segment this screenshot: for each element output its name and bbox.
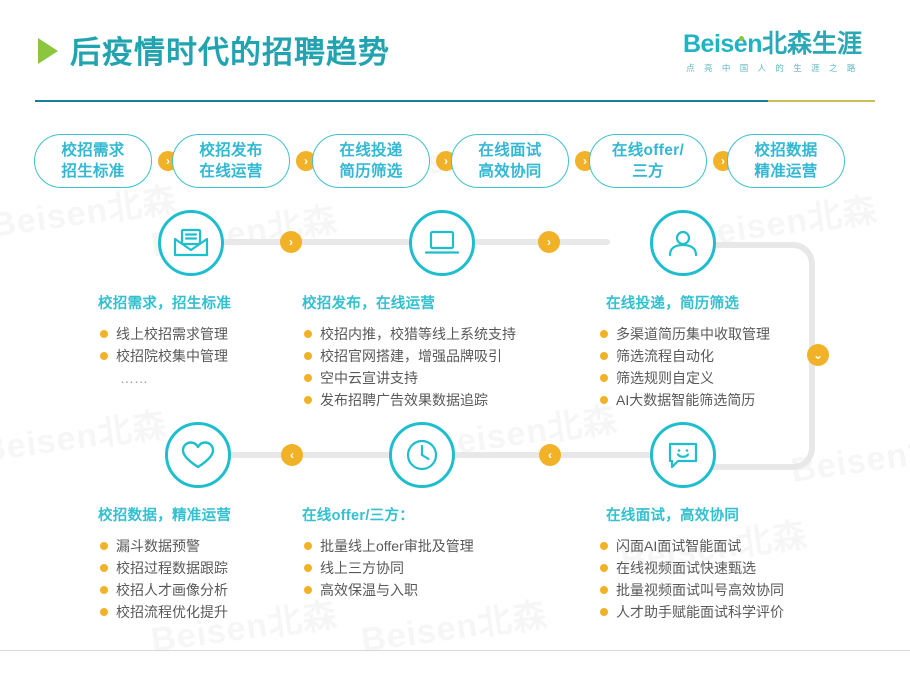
list-item-text: 校招院校集中管理 [116, 348, 228, 364]
list-item: 校招流程优化提升 [98, 601, 298, 623]
pill-line-2: 高效协同 [478, 161, 541, 182]
list-item-text: 闪面AI面试智能面试 [616, 538, 741, 554]
logo-tagline: 点 亮 中 国 人 的 生 涯 之 路 [683, 62, 862, 74]
pill-line-1: 在线offer/ [612, 140, 684, 161]
page-title: 后疫情时代的招聘趋势 [70, 34, 390, 72]
list-item-text: AI大数据智能筛选简历 [616, 392, 755, 408]
list-item: …… [98, 367, 283, 389]
pill-line-2: 在线运营 [199, 161, 262, 182]
list-item-text: 校招官网搭建，增强品牌吸引 [320, 348, 502, 364]
list-item: 线上三方协同 [302, 557, 542, 579]
block-feature-list: 线上校招需求管理 校招院校集中管理 …… [98, 323, 283, 389]
block-heading: 校招发布，在线运营 [302, 292, 582, 313]
list-item: 筛选规则自定义 [598, 367, 838, 389]
block-heading: 在线面试，高效协同 [606, 504, 848, 525]
block-feature-list: 漏斗数据预警 校招过程数据跟踪 校招人才画像分析 校招流程优化提升 [98, 535, 298, 623]
list-item: 空中云宣讲支持 [302, 367, 582, 389]
bullet-dot [304, 564, 312, 572]
logo-brand-en: Beisen [683, 30, 762, 58]
bullet-dot [600, 330, 608, 338]
list-item: 漏斗数据预警 [98, 535, 298, 557]
clock-icon [389, 422, 455, 488]
list-item: 线上校招需求管理 [98, 323, 283, 345]
bullet-dot [304, 374, 312, 382]
connector-arrow-left-icon: ‹ [539, 444, 561, 466]
list-item-text: 批量视频面试叫号高效协同 [616, 582, 784, 598]
block-heading: 在线offer/三方： [302, 504, 542, 525]
block-feature-list: 闪面AI面试智能面试 在线视频面试快速甄选 批量视频面试叫号高效协同 人才助手赋… [598, 535, 848, 623]
slide-header: 后疫情时代的招聘趋势 Beisen北森生涯 点 亮 中 国 人 的 生 涯 之 … [0, 0, 910, 105]
divider-segment-teal [35, 100, 768, 102]
pill-line-1: 在线面试 [478, 140, 541, 161]
bullet-dot [600, 396, 608, 404]
pill-online-interview[interactable]: 在线面试 高效协同 [451, 134, 569, 188]
brand-logo: Beisen北森生涯 点 亮 中 国 人 的 生 涯 之 路 [683, 30, 862, 74]
list-item: 校招院校集中管理 [98, 345, 283, 367]
bullet-dot [100, 542, 108, 550]
pill-line-2: 简历筛选 [339, 161, 402, 182]
logo-wordmark: Beisen北森生涯 [683, 30, 862, 58]
pill-online-offer[interactable]: 在线offer/ 三方 [589, 134, 707, 188]
bullet-dot [600, 352, 608, 360]
slide-canvas: Beisen北森 Beisen北森 Beisen北森 Beisen北森 Beis… [0, 0, 910, 693]
slide-bottom-rule [0, 650, 910, 651]
pill-line-2: 招生标准 [61, 161, 124, 182]
chat-smile-icon [650, 422, 716, 488]
pill-line-1: 在线投递 [339, 140, 402, 161]
bullet-dot [304, 396, 312, 404]
bullet-dot [100, 586, 108, 594]
list-item-text: 空中云宣讲支持 [320, 370, 418, 386]
bullet-dot [100, 564, 108, 572]
list-item-text: 发布招聘广告效果数据追踪 [320, 392, 488, 408]
list-item: 校招过程数据跟踪 [98, 557, 298, 579]
bullet-dot [304, 352, 312, 360]
list-item: 多渠道简历集中收取管理 [598, 323, 838, 345]
pill-line-2: 精准运营 [754, 161, 817, 182]
list-item-text: 在线视频面试快速甄选 [616, 560, 756, 576]
envelope-icon [158, 210, 224, 276]
pill-line-1: 校招数据 [754, 140, 817, 161]
logo-brand-cn: 北森生涯 [762, 30, 862, 58]
block-feature-list: 多渠道简历集中收取管理 筛选流程自动化 筛选规则自定义 AI大数据智能筛选简历 [598, 323, 838, 411]
pill-campus-data[interactable]: 校招数据 精准运营 [727, 134, 845, 188]
list-item: 批量线上offer审批及管理 [302, 535, 542, 557]
bullet-dot [100, 330, 108, 338]
list-item: 筛选流程自动化 [598, 345, 838, 367]
block-online-offer: 在线offer/三方： 批量线上offer审批及管理 线上三方协同 高效保温与入… [302, 422, 542, 601]
list-item-text: 校招内推，校猎等线上系统支持 [320, 326, 516, 342]
header-divider [35, 100, 875, 102]
bullet-dot [600, 586, 608, 594]
triangle-play-icon [38, 38, 58, 64]
logo-dot-accent [739, 36, 744, 41]
list-item: 批量视频面试叫号高效协同 [598, 579, 848, 601]
pill-line-2: 三方 [632, 161, 664, 182]
person-icon [650, 210, 716, 276]
block-heading: 校招需求，招生标准 [98, 292, 283, 313]
block-heading: 在线投递，简历筛选 [606, 292, 838, 313]
list-item: 校招内推，校猎等线上系统支持 [302, 323, 582, 345]
bullet-dot [100, 608, 108, 616]
list-item-text: 筛选规则自定义 [616, 370, 714, 386]
block-online-interview: 在线面试，高效协同 闪面AI面试智能面试 在线视频面试快速甄选 批量视频面试叫号… [598, 422, 848, 623]
list-item-text: 多渠道简历集中收取管理 [616, 326, 770, 342]
list-item: AI大数据智能筛选简历 [598, 389, 838, 411]
bullet-dot [304, 586, 312, 594]
list-item-text: 线上校招需求管理 [116, 326, 228, 342]
list-item-text: 高效保温与入职 [320, 582, 418, 598]
list-item: 校招官网搭建，增强品牌吸引 [302, 345, 582, 367]
bullet-dot [600, 608, 608, 616]
list-item: 高效保温与入职 [302, 579, 542, 601]
list-item: 在线视频面试快速甄选 [598, 557, 848, 579]
list-item-text: 人才助手赋能面试科学评价 [616, 604, 784, 620]
block-feature-list: 校招内推，校猎等线上系统支持 校招官网搭建，增强品牌吸引 空中云宣讲支持 发布招… [302, 323, 582, 411]
block-feature-list: 批量线上offer审批及管理 线上三方协同 高效保温与入职 [302, 535, 542, 601]
list-item-text: 校招过程数据跟踪 [116, 560, 228, 576]
list-item: 人才助手赋能面试科学评价 [598, 601, 848, 623]
list-item-text: 筛选流程自动化 [616, 348, 714, 364]
process-pill-row: 校招需求 招生标准 › 校招发布 在线运营 › 在线投递 简历筛选 › 在线面试… [0, 134, 910, 196]
list-item-text: 漏斗数据预警 [116, 538, 200, 554]
block-heading: 校招数据，精准运营 [98, 504, 298, 525]
bullet-dot [600, 564, 608, 572]
pill-campus-publish[interactable]: 校招发布 在线运营 [172, 134, 290, 188]
list-item-text: 批量线上offer审批及管理 [320, 538, 474, 554]
list-item-text: 线上三方协同 [320, 560, 404, 576]
block-online-apply: 在线投递，简历筛选 多渠道简历集中收取管理 筛选流程自动化 筛选规则自定义 AI… [598, 210, 838, 411]
list-item: 校招人才画像分析 [98, 579, 298, 601]
list-item-text: 校招流程优化提升 [116, 604, 228, 620]
divider-segment-gold [768, 100, 875, 102]
block-campus-demand: 校招需求，招生标准 线上校招需求管理 校招院校集中管理 …… [98, 210, 283, 389]
bullet-dot [304, 542, 312, 550]
pill-online-apply[interactable]: 在线投递 简历筛选 [312, 134, 430, 188]
pill-campus-demand[interactable]: 校招需求 招生标准 [34, 134, 152, 188]
block-campus-publish: 校招发布，在线运营 校招内推，校猎等线上系统支持 校招官网搭建，增强品牌吸引 空… [302, 210, 582, 411]
pill-line-1: 校招发布 [199, 140, 262, 161]
pill-line-1: 校招需求 [61, 140, 124, 161]
laptop-icon [409, 210, 475, 276]
bullet-dot [600, 542, 608, 550]
list-item-text: 校招人才画像分析 [116, 582, 228, 598]
list-item: 闪面AI面试智能面试 [598, 535, 848, 557]
block-campus-data: 校招数据，精准运营 漏斗数据预警 校招过程数据跟踪 校招人才画像分析 校招流程优… [98, 422, 298, 623]
bullet-dot [100, 352, 108, 360]
connector-arrow-right-icon: › [280, 231, 302, 253]
list-item-text: …… [120, 370, 148, 386]
bullet-dot [304, 330, 312, 338]
list-item: 发布招聘广告效果数据追踪 [302, 389, 582, 411]
heart-icon [165, 422, 231, 488]
bullet-dot [600, 374, 608, 382]
